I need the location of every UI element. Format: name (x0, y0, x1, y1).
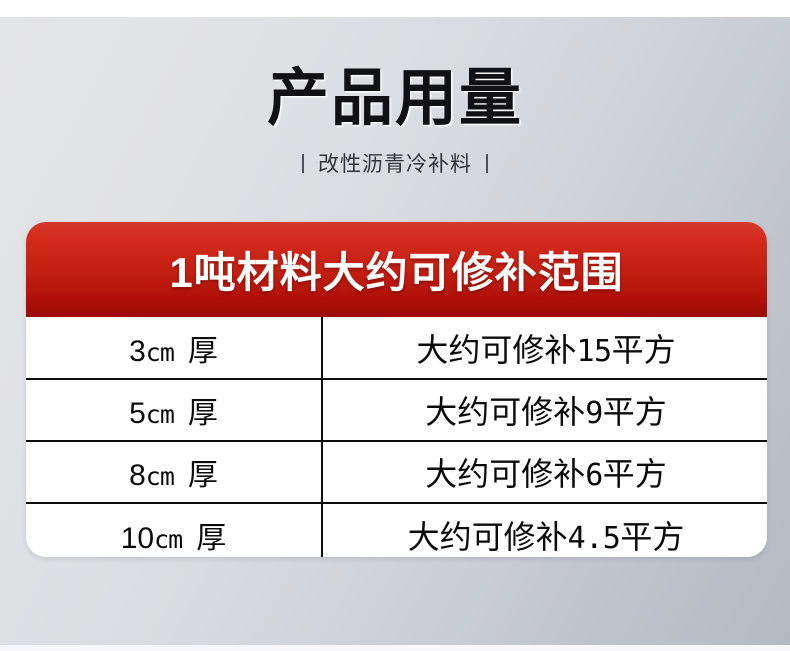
thickness-number: 10 (121, 522, 154, 555)
coverage-prefix: 大约可修补 (408, 519, 568, 555)
coverage-number: 6 (585, 458, 603, 493)
thickness-word: 厚 (196, 522, 226, 555)
coverage-prefix: 大约可修补 (416, 332, 576, 368)
page-subtitle: 改性沥青冷补料 (318, 148, 472, 178)
coverage-cell: 大约可修补6平方 (322, 441, 767, 503)
thickness-cell: 10cm厚 (26, 503, 322, 557)
table-row: 8cm厚 大约可修补6平方 (26, 441, 767, 503)
thickness-unit: cm (146, 462, 174, 491)
thickness-unit: cm (154, 525, 182, 554)
thickness-unit: cm (146, 400, 174, 429)
coverage-cell: 大约可修补4.5平方 (322, 503, 767, 557)
bottom-white-strip (0, 645, 790, 651)
coverage-cell: 大约可修补9平方 (322, 379, 767, 441)
table-row: 5cm厚 大约可修补9平方 (26, 379, 767, 441)
coverage-value: 大约可修补9平方 (425, 394, 667, 430)
thickness-value: 8cm厚 (129, 459, 218, 492)
coverage-prefix: 大约可修补 (425, 394, 585, 430)
thickness-value: 5cm厚 (129, 397, 218, 430)
subtitle-right-bar-icon (486, 154, 488, 173)
thickness-cell: 3cm厚 (26, 317, 322, 379)
thickness-value: 10cm厚 (121, 522, 226, 555)
page-title: 产品用量 (0, 62, 790, 136)
coverage-number: 9 (585, 396, 603, 431)
coverage-suffix: 平方 (620, 519, 684, 555)
coverage-number: 15 (576, 334, 611, 369)
coverage-suffix: 平方 (603, 394, 667, 430)
thickness-value: 3cm厚 (129, 335, 218, 368)
thickness-word: 厚 (188, 459, 218, 492)
subtitle-left-bar-icon (302, 154, 304, 173)
thickness-cell: 5cm厚 (26, 379, 322, 441)
thickness-number: 5 (129, 397, 146, 430)
product-usage-infographic: 产品用量 改性沥青冷补料 1吨材料大约可修补范围 3cm厚 大约可修补15平方 (0, 0, 790, 651)
thickness-number: 8 (129, 459, 146, 492)
usage-table: 3cm厚 大约可修补15平方 5cm厚 大约可修补9平方 (26, 317, 767, 557)
thickness-word: 厚 (188, 397, 218, 430)
table-row: 3cm厚 大约可修补15平方 (26, 317, 767, 379)
table-row: 10cm厚 大约可修补4.5平方 (26, 503, 767, 557)
coverage-suffix: 平方 (612, 332, 676, 368)
subtitle-row: 改性沥青冷补料 (0, 148, 790, 178)
top-white-strip (0, 0, 790, 17)
usage-card: 1吨材料大约可修补范围 3cm厚 大约可修补15平方 5cm厚 (26, 222, 767, 557)
thickness-word: 厚 (188, 335, 218, 368)
heading-block: 产品用量 改性沥青冷补料 (0, 62, 790, 178)
coverage-prefix: 大约可修补 (425, 456, 585, 492)
thickness-unit: cm (146, 338, 174, 367)
coverage-value: 大约可修补6平方 (425, 456, 667, 492)
card-header-title: 1吨材料大约可修补范围 (169, 239, 623, 300)
card-header-banner: 1吨材料大约可修补范围 (26, 222, 767, 317)
usage-table-body: 3cm厚 大约可修补15平方 5cm厚 大约可修补9平方 (26, 317, 767, 557)
coverage-suffix: 平方 (603, 456, 667, 492)
coverage-cell: 大约可修补15平方 (322, 317, 767, 379)
coverage-number: 4.5 (568, 521, 621, 556)
thickness-number: 3 (129, 335, 146, 368)
coverage-value: 大约可修补4.5平方 (408, 519, 685, 555)
coverage-value: 大约可修补15平方 (416, 332, 675, 368)
thickness-cell: 8cm厚 (26, 441, 322, 503)
